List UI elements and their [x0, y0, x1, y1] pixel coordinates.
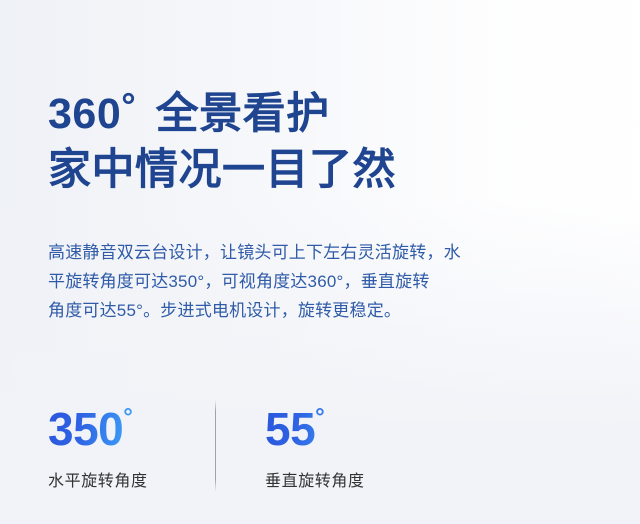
stat-number: 55: [265, 403, 315, 455]
stats-row: 350° 水平旋转角度 55° 垂直旋转角度: [0, 392, 640, 502]
degree-symbol-icon: °: [315, 404, 324, 431]
headline-line-2: 家中情况一目了然: [48, 142, 608, 198]
description-line-2: 平旋转角度可达350°，可视角度达360°，垂直旋转: [48, 267, 550, 296]
stat-value: 350°: [48, 392, 148, 455]
degree-symbol-icon: °: [123, 404, 132, 431]
stat-vertical-rotation: 55° 垂直旋转角度: [265, 392, 365, 493]
stat-horizontal-rotation: 350° 水平旋转角度: [48, 392, 148, 493]
headline-line-1: 360°全景看护: [48, 78, 608, 142]
stat-number: 350: [48, 403, 123, 455]
degree-symbol-icon: °: [121, 85, 135, 126]
page-headline: 360°全景看护 家中情况一目了然: [48, 78, 608, 198]
headline-number: 360: [48, 90, 121, 138]
description-paragraph: 高速静音双云台设计，让镜头可上下左右灵活旋转，水 平旋转角度可达350°，可视角…: [48, 238, 550, 325]
stat-label: 水平旋转角度: [48, 471, 148, 493]
stat-value: 55°: [265, 392, 365, 455]
stat-label: 垂直旋转角度: [265, 471, 365, 493]
headline-text: 全景看护: [156, 90, 330, 138]
stats-divider: [215, 400, 216, 492]
description-line-3: 角度可达55°。步进式电机设计，旋转更稳定。: [48, 296, 550, 325]
description-line-1: 高速静音双云台设计，让镜头可上下左右灵活旋转，水: [48, 238, 550, 267]
feature-page: 360°全景看护 家中情况一目了然 高速静音双云台设计，让镜头可上下左右灵活旋转…: [0, 0, 640, 524]
